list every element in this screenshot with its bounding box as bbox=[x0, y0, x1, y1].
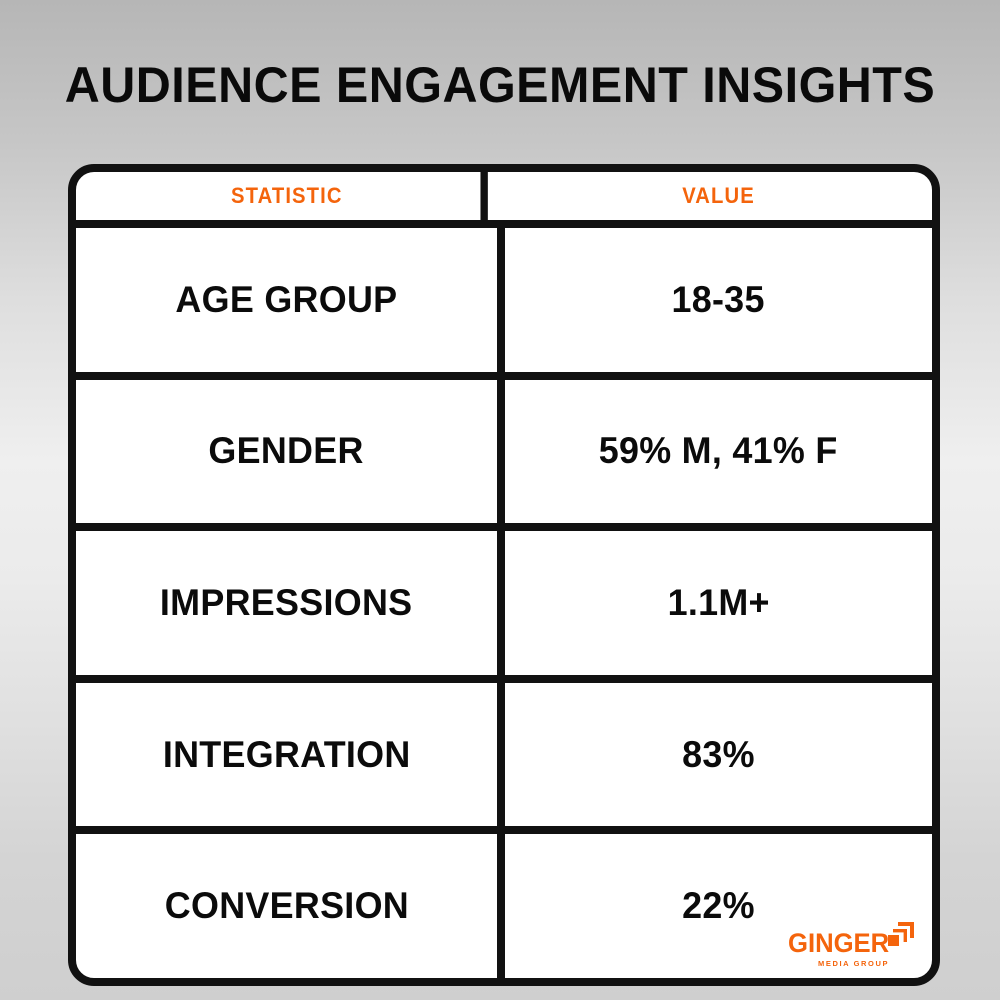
column-header-statistic: STATISTIC bbox=[93, 172, 488, 220]
table-row: GENDER 59% M, 41% F bbox=[76, 380, 932, 532]
logo-tagline: MEDIA GROUP bbox=[818, 960, 889, 968]
statistic-label: INTEGRATION bbox=[163, 734, 411, 776]
value-label: 83% bbox=[682, 734, 755, 776]
nested-squares-icon bbox=[888, 922, 914, 948]
cell-statistic: IMPRESSIONS bbox=[76, 531, 505, 675]
page-title: AUDIENCE ENGAGEMENT INSIGHTS bbox=[15, 56, 985, 114]
table-row: INTEGRATION 83% bbox=[76, 683, 932, 835]
cell-statistic: CONVERSION bbox=[76, 834, 505, 978]
value-label: 1.1M+ bbox=[667, 582, 769, 624]
statistic-label: IMPRESSIONS bbox=[160, 582, 412, 624]
cell-statistic: INTEGRATION bbox=[76, 683, 505, 827]
brand-logo: GINGER MEDIA GROUP bbox=[784, 914, 914, 970]
statistic-label: AGE GROUP bbox=[176, 279, 398, 321]
cell-value: 59% M, 41% F bbox=[505, 380, 932, 524]
statistic-label: GENDER bbox=[209, 430, 364, 472]
cell-statistic: AGE GROUP bbox=[76, 228, 505, 372]
table-header-row: STATISTIC VALUE bbox=[76, 172, 932, 228]
cell-value: 1.1M+ bbox=[505, 531, 932, 675]
cell-value: 18-35 bbox=[505, 228, 932, 372]
logo-wordmark: GINGER bbox=[788, 930, 889, 957]
value-label: 18-35 bbox=[672, 279, 765, 321]
table-row: AGE GROUP 18-35 bbox=[76, 228, 932, 380]
cell-value: 83% bbox=[505, 683, 932, 827]
statistic-label: CONVERSION bbox=[164, 885, 408, 927]
value-label: 59% M, 41% F bbox=[599, 430, 838, 472]
cell-statistic: GENDER bbox=[76, 380, 505, 524]
table-row: IMPRESSIONS 1.1M+ bbox=[76, 531, 932, 683]
value-label: 22% bbox=[682, 885, 755, 927]
cell-value: 22% GINGER MEDIA GROUP bbox=[505, 834, 932, 978]
column-header-value: VALUE bbox=[522, 172, 915, 220]
table-row: CONVERSION 22% GINGER MEDIA GROUP bbox=[76, 834, 932, 978]
insights-table: STATISTIC VALUE AGE GROUP 18-35 GENDER 5… bbox=[68, 164, 940, 986]
